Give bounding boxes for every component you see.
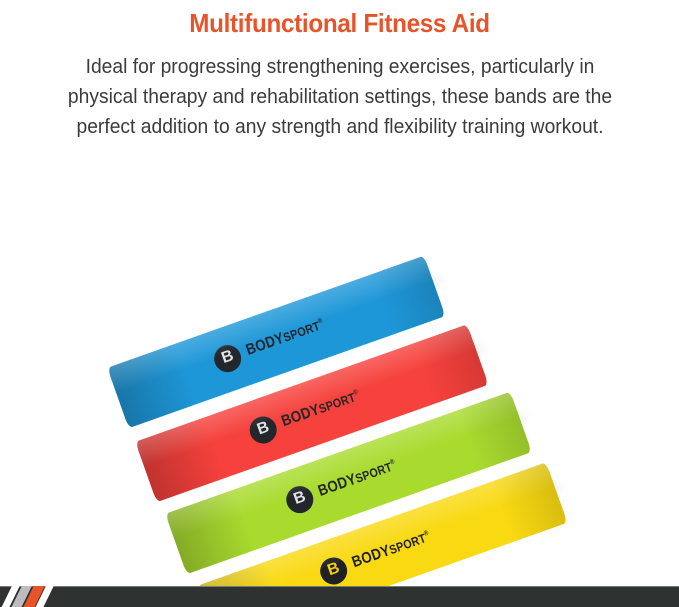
bodysport-logo-icon: B [283,482,317,516]
brand-wordmark: BODYSPORT® [244,315,327,359]
product-detail-image: Multifunctional Fitness Aid Ideal for pr… [0,0,679,607]
logo-letter: B [220,348,236,367]
bodysport-logo-icon: B [246,412,280,446]
brand-footer-bar [0,586,679,607]
logo-letter: B [292,489,308,508]
bodysport-logo-icon: B [317,553,351,586]
red-band-fold [412,324,488,404]
logo-letter: B [326,560,342,579]
blue-band-edge-shade [107,343,198,428]
brand-wordmark: BODYSPORT® [280,387,363,431]
red-band-edge-shade [135,417,226,502]
page-title: Multifunctional Fitness Aid [46,8,633,39]
brand-lockup-red: B BODYSPORT® [246,378,377,447]
bodysport-logo-icon: B [211,341,245,375]
footer-hairline [0,586,679,587]
blue-band-fold [369,256,445,336]
green-band-fold [456,392,532,472]
brand-lockup-green: B BODYSPORT® [283,448,414,517]
description-paragraph: Ideal for progressing strengthening exer… [58,52,622,142]
yellow-band-fold [491,462,567,542]
brand-wordmark: BODYSPORT® [350,528,433,572]
green-band-edge-shade [165,489,256,574]
header-text-block: Multifunctional Fitness Aid Ideal for pr… [0,0,679,142]
brand-wordmark: BODYSPORT® [316,456,399,500]
logo-letter: B [255,419,271,438]
brand-lockup-yellow: B BODYSPORT® [317,519,448,586]
brand-lockup-blue: B BODYSPORT® [211,307,342,376]
product-photo: B BODYSPORT® B BODYSPORT® B [0,210,679,586]
